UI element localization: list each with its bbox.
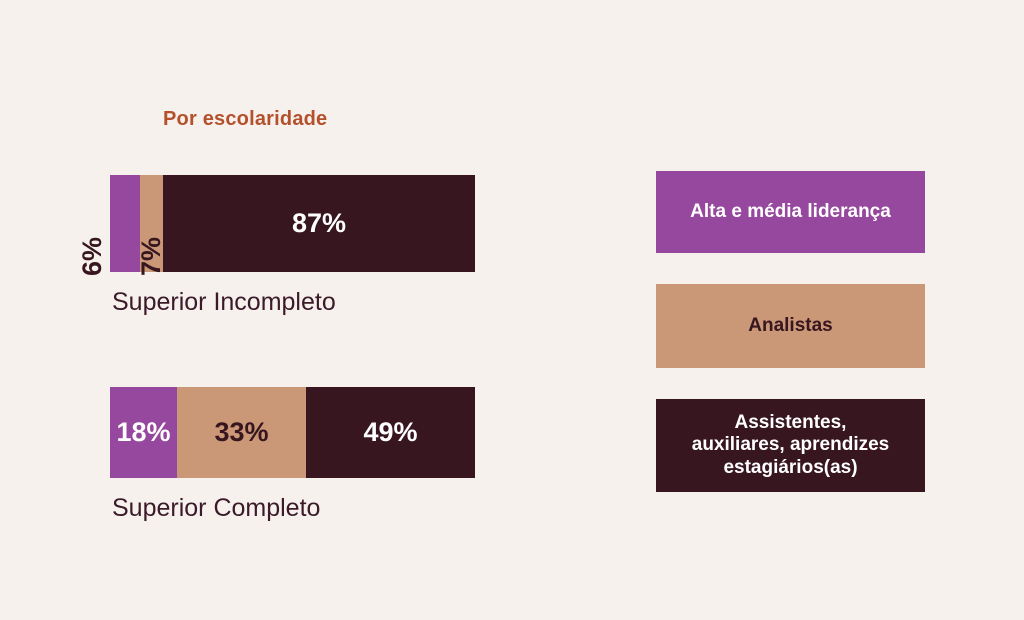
bar2-segment-assistentes[interactable]: 49% — [306, 387, 475, 478]
bar-group-superior-completo: 18% 33% 49% — [110, 387, 475, 478]
bar1-segment3-value: 87% — [292, 210, 346, 237]
legend-item-lideranca[interactable]: Alta e média liderança — [656, 171, 925, 253]
legend-item-assistentes-label: Assistentes, auxiliares, aprendizes esta… — [692, 412, 890, 479]
bar2-segment-analistas[interactable]: 33% — [177, 387, 306, 478]
chart-title: Por escolaridade — [163, 108, 327, 131]
bar1-segment1-outside-label: 6% — [77, 175, 109, 272]
bar2-segment1-value: 18% — [116, 419, 170, 446]
bar2-segment-lideranca[interactable]: 18% — [110, 387, 177, 478]
category-label-superior-completo: Superior Completo — [112, 494, 320, 523]
legend-item-assistentes[interactable]: Assistentes, auxiliares, aprendizes esta… — [656, 399, 925, 492]
bar-group-superior-incompleto: 6% 7% 87% — [110, 175, 475, 272]
chart-container: Por escolaridade 6% 7% 87% Superior Inco… — [0, 0, 1024, 620]
category-label-superior-incompleto: Superior Incompleto — [112, 288, 336, 317]
stacked-bar-1: 7% 87% — [110, 175, 475, 272]
bar1-segment-assistentes[interactable]: 87% — [163, 175, 475, 272]
legend-item-analistas[interactable]: Analistas — [656, 284, 925, 368]
bar1-segment-analistas[interactable]: 7% — [140, 175, 163, 272]
bar2-segment2-value: 33% — [214, 419, 268, 446]
bar1-segment2-value: 7% — [138, 237, 165, 276]
legend-item-analistas-label: Analistas — [748, 315, 832, 337]
bar2-segment3-value: 49% — [363, 419, 417, 446]
bar1-segment1-value: 6% — [80, 237, 107, 276]
legend-item-lideranca-label: Alta e média liderança — [690, 201, 891, 223]
stacked-bar-2: 18% 33% 49% — [110, 387, 475, 478]
